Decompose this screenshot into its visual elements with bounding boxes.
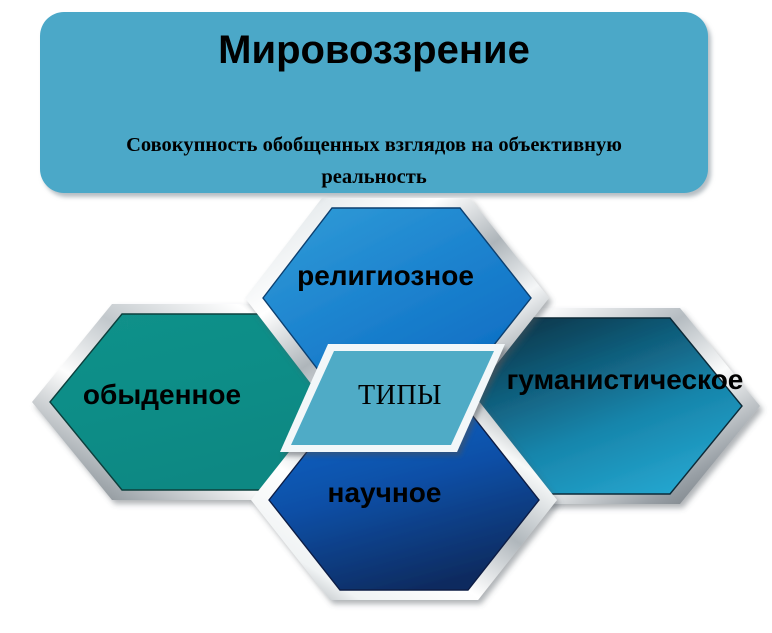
hexagon-label-religious: религиозное xyxy=(258,260,513,292)
title-card: Мировоззрение Совокупность обобщенных вз… xyxy=(40,12,708,193)
page-subtitle: Совокупность обобщенных взглядов на объе… xyxy=(87,130,661,194)
hexagon-label-ordinary: обыденное xyxy=(42,379,282,411)
hexagon-label-humanistic: гуманистическое xyxy=(494,364,756,396)
hexagon-humanistic[interactable] xyxy=(440,308,760,504)
hexagon-label-scientific: научное xyxy=(282,477,487,509)
center-label-types: ТИПЫ xyxy=(330,380,470,412)
diagram-canvas: Мировоззрение Совокупность обобщенных вз… xyxy=(0,0,772,633)
page-title: Мировоззрение xyxy=(218,28,530,72)
